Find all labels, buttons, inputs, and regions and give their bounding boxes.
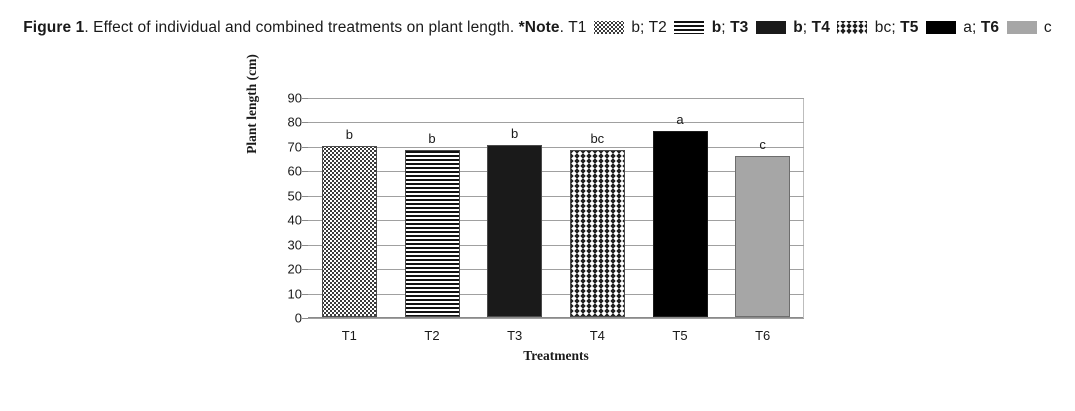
gridline <box>308 220 804 221</box>
plot-area: bT1bT2bT3bcT4aT5cT6 <box>308 98 804 318</box>
x-axis-tick-label-t4: T4 <box>556 328 639 343</box>
bar-t3[interactable] <box>487 145 542 317</box>
legend-treatment-label: T2 <box>649 19 672 36</box>
legend-treatment-label: T3 <box>730 19 753 36</box>
legend-significance-letter: b <box>707 19 721 36</box>
legend-separator: ; <box>972 19 981 36</box>
bar-t1[interactable] <box>322 146 377 317</box>
legend-separator: ; <box>803 19 812 36</box>
x-axis-tick-label-t5: T5 <box>639 328 722 343</box>
gridline <box>308 269 804 270</box>
legend-significance-letter: b <box>627 19 640 36</box>
bar-annotation-t4: bc <box>570 131 625 146</box>
y-axis-tick-mark <box>302 171 308 172</box>
zigzag-swatch <box>837 21 867 34</box>
y-axis-tick-label: 40 <box>258 213 302 228</box>
bar-t5[interactable] <box>653 131 708 317</box>
y-axis-tick-label: 20 <box>258 262 302 277</box>
plot-right-border <box>803 98 804 318</box>
bar-t4[interactable] <box>570 150 625 317</box>
bar-annotation-t1: b <box>322 127 377 142</box>
gridline <box>308 147 804 148</box>
y-axis-tick-label: 70 <box>258 139 302 154</box>
y-axis-tick-mark <box>302 122 308 123</box>
legend-significance-letter: b <box>789 19 803 36</box>
gridline <box>308 98 804 99</box>
legend-separator: ; <box>721 19 730 36</box>
legend-significance-letter: c <box>1040 19 1052 36</box>
legend-treatment-label: T4 <box>812 19 835 36</box>
dashes-swatch <box>756 21 786 34</box>
legend-significance-letter: a <box>959 19 972 36</box>
x-axis-tick-label-t6: T6 <box>721 328 804 343</box>
bar-annotation-t6: c <box>735 137 790 152</box>
caption-legend-list: T1 b; T2 b; T3 b; T4 bc; T5 a; T6 c <box>568 19 1052 36</box>
legend-separator: ; <box>640 19 649 36</box>
gridline <box>308 196 804 197</box>
y-axis-tick-mark <box>302 245 308 246</box>
legend-entry-t3: T3 b <box>730 19 803 36</box>
x-axis-tick-label-t2: T2 <box>391 328 474 343</box>
gridline <box>308 318 804 319</box>
gridline <box>308 294 804 295</box>
legend-entry-t6: T6 c <box>981 19 1052 36</box>
caption-main-text: . Effect of individual and combined trea… <box>84 19 518 36</box>
hlines-swatch <box>674 21 704 34</box>
legend-treatment-label: T6 <box>981 19 1004 36</box>
y-axis-tick-label: 10 <box>258 286 302 301</box>
y-axis-tick-label: 50 <box>258 188 302 203</box>
figure-caption: Figure 1. Effect of individual and combi… <box>0 14 1075 42</box>
y-axis-tick-mark <box>302 147 308 148</box>
y-axis-tick-label: 90 <box>258 91 302 106</box>
gridline <box>308 245 804 246</box>
bar-annotation-t3: b <box>487 126 542 141</box>
y-axis-tick-mark <box>302 269 308 270</box>
gray-swatch <box>1007 21 1037 34</box>
y-axis-tick-mark <box>302 294 308 295</box>
y-axis-tick-label: 80 <box>258 115 302 130</box>
y-axis-tick-mark <box>302 98 308 99</box>
legend-entry-t1: T1 b <box>568 19 640 36</box>
y-axis-tick-mark <box>302 318 308 319</box>
legend-treatment-label: T1 <box>568 19 591 36</box>
bar-t6[interactable] <box>735 156 790 317</box>
y-axis-tick-label: 0 <box>258 311 302 326</box>
y-axis-tick-mark <box>302 220 308 221</box>
bar-t2[interactable] <box>405 150 460 317</box>
caption-note-separator: . <box>560 19 569 36</box>
black-swatch <box>926 21 956 34</box>
dots-swatch <box>594 21 624 34</box>
x-axis-tick-label-t1: T1 <box>308 328 391 343</box>
legend-significance-letter: bc <box>870 19 891 36</box>
legend-entry-t2: T2 b <box>649 19 722 36</box>
bar-annotation-t2: b <box>405 131 460 146</box>
legend-treatment-label: T5 <box>900 19 923 36</box>
bar-chart: Plant length (cm) 9080706050403020100 bT… <box>248 98 848 378</box>
legend-entry-t5: T5 a <box>900 19 972 36</box>
gridline <box>308 122 804 123</box>
legend-separator: ; <box>891 19 900 36</box>
gridline <box>308 171 804 172</box>
x-axis-title: Treatments <box>308 348 804 364</box>
x-axis-tick-label-t3: T3 <box>473 328 556 343</box>
y-axis-tick-label: 60 <box>258 164 302 179</box>
y-axis-tick-label: 30 <box>258 237 302 252</box>
figure-label: Figure 1 <box>23 19 84 36</box>
y-axis-tick-mark <box>302 196 308 197</box>
caption-note-label: *Note <box>519 19 560 36</box>
bar-annotation-t5: a <box>653 112 708 127</box>
y-axis-tick-labels: 9080706050403020100 <box>248 98 302 318</box>
legend-entry-t4: T4 bc <box>812 19 892 36</box>
